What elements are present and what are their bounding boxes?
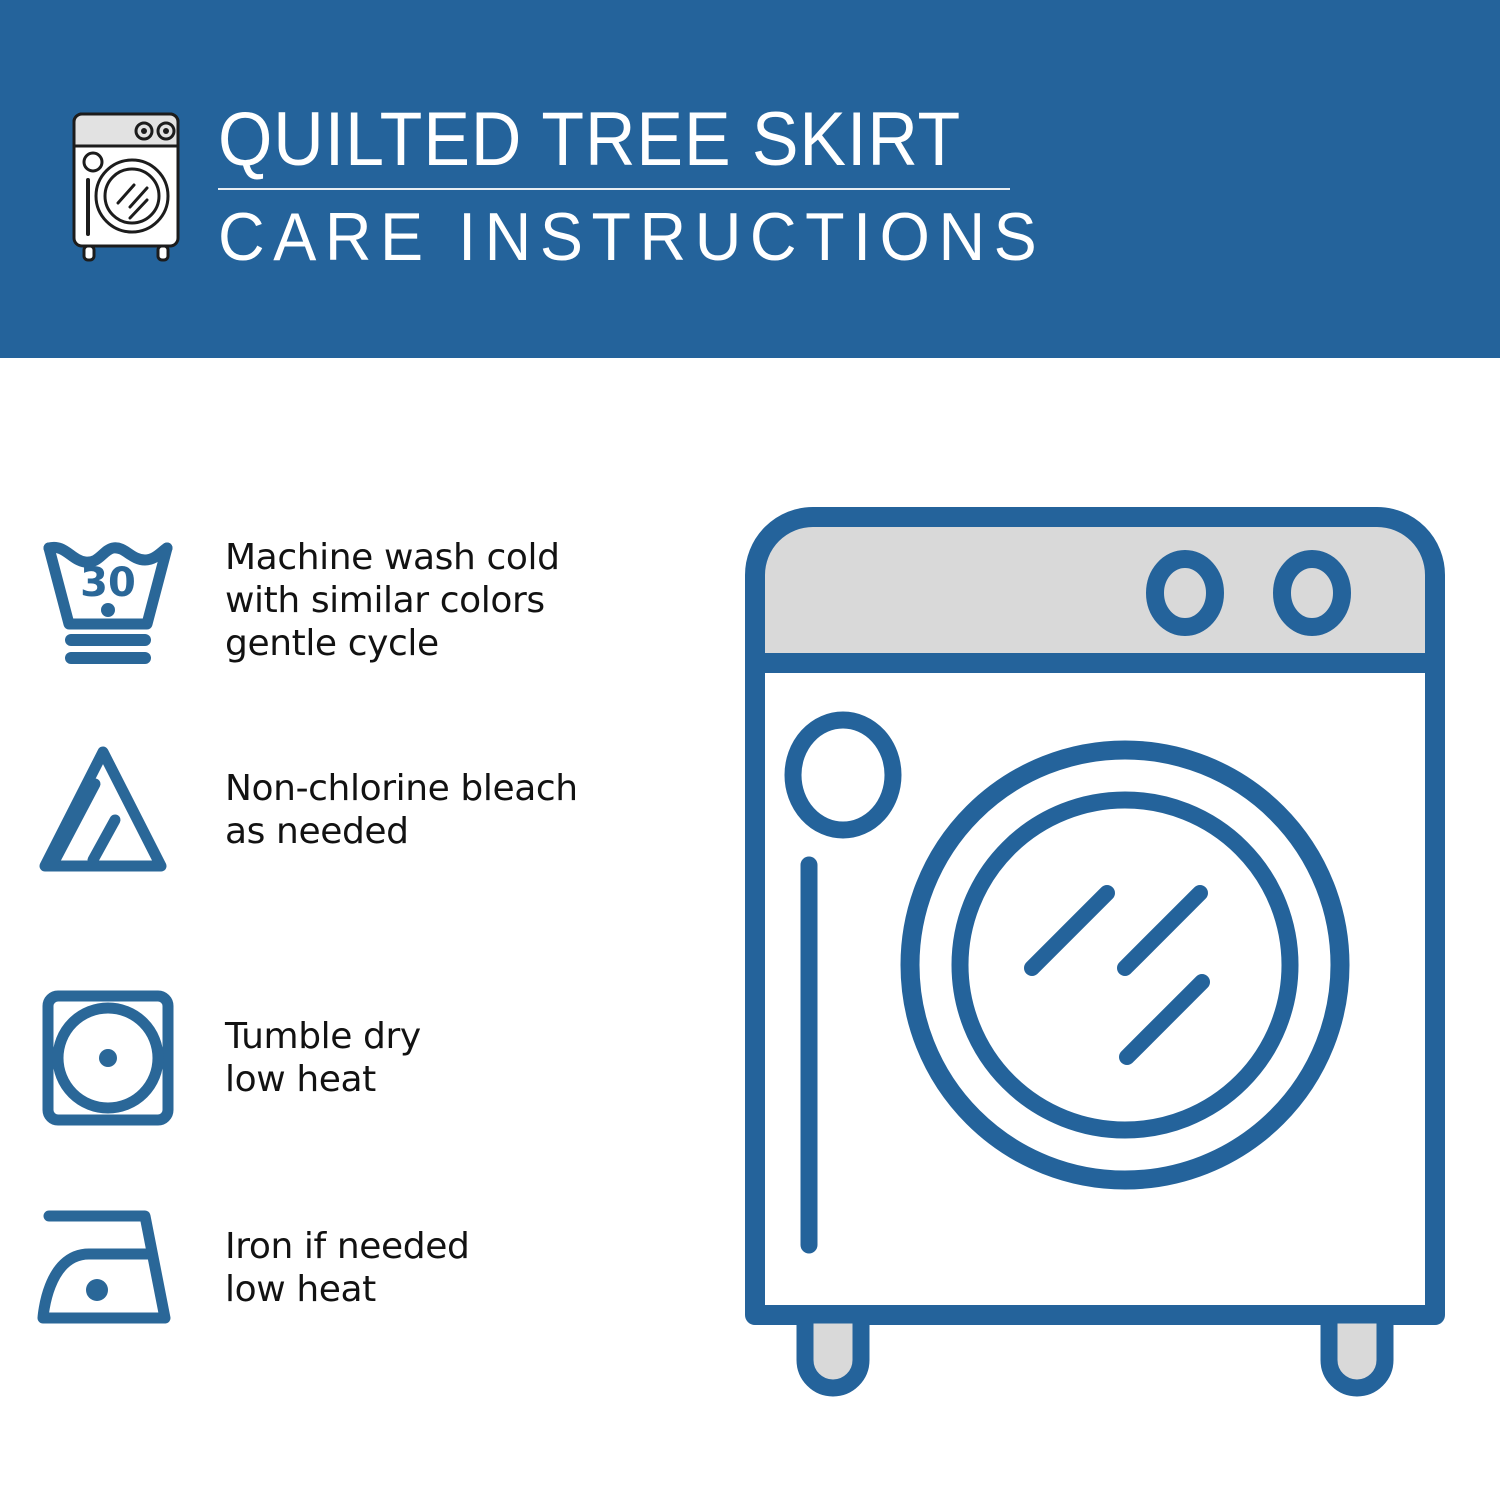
care-item-text: Tumble dry low heat — [215, 1015, 421, 1101]
wash-temperature-label: 30 — [80, 560, 136, 606]
header-banner: QUILTED TREE SKIRT CARE INSTRUCTIONS — [0, 0, 1500, 358]
care-item-text: Iron if needed low heat — [215, 1225, 469, 1311]
care-item-tumble-dry: Tumble dry low heat — [0, 978, 720, 1138]
header-text-block: QUILTED TREE SKIRT CARE INSTRUCTIONS — [218, 98, 1018, 276]
page-subtitle: CARE INSTRUCTIONS — [218, 198, 978, 276]
care-line: gentle cycle — [225, 622, 560, 665]
non-chlorine-bleach-icon — [0, 730, 215, 890]
care-item-iron: Iron if needed low heat — [0, 1188, 720, 1348]
care-item-text: Non-chlorine bleach as needed — [215, 767, 578, 853]
machine-foot — [805, 1315, 861, 1388]
detergent-button — [793, 720, 893, 830]
care-line: Machine wash cold — [225, 536, 560, 579]
washing-machine-illustration — [735, 495, 1455, 1420]
iron-low-icon — [0, 1188, 215, 1348]
care-line: as needed — [225, 810, 578, 853]
care-line: with similar colors — [225, 579, 560, 622]
care-item-machine-wash: 30 Machine wash cold with similar colors… — [0, 520, 720, 680]
machine-foot — [1329, 1315, 1385, 1388]
machine-wash-30-gentle-icon: 30 — [0, 520, 215, 680]
care-item-bleach: Non-chlorine bleach as needed — [0, 730, 720, 890]
door-stripes — [1032, 893, 1202, 1057]
care-line: low heat — [225, 1268, 469, 1311]
care-line: Tumble dry — [225, 1015, 421, 1058]
washing-machine-icon — [62, 104, 190, 264]
care-item-text: Machine wash cold with similar colors ge… — [215, 536, 560, 665]
page-title: QUILTED TREE SKIRT — [218, 98, 954, 182]
tumble-dry-low-icon — [0, 978, 215, 1138]
care-line: Non-chlorine bleach — [225, 767, 578, 810]
care-instructions-page: QUILTED TREE SKIRT CARE INSTRUCTIONS 30 — [0, 0, 1500, 1500]
care-line: Iron if needed — [225, 1225, 469, 1268]
care-line: low heat — [225, 1058, 421, 1101]
title-divider — [218, 188, 1010, 190]
